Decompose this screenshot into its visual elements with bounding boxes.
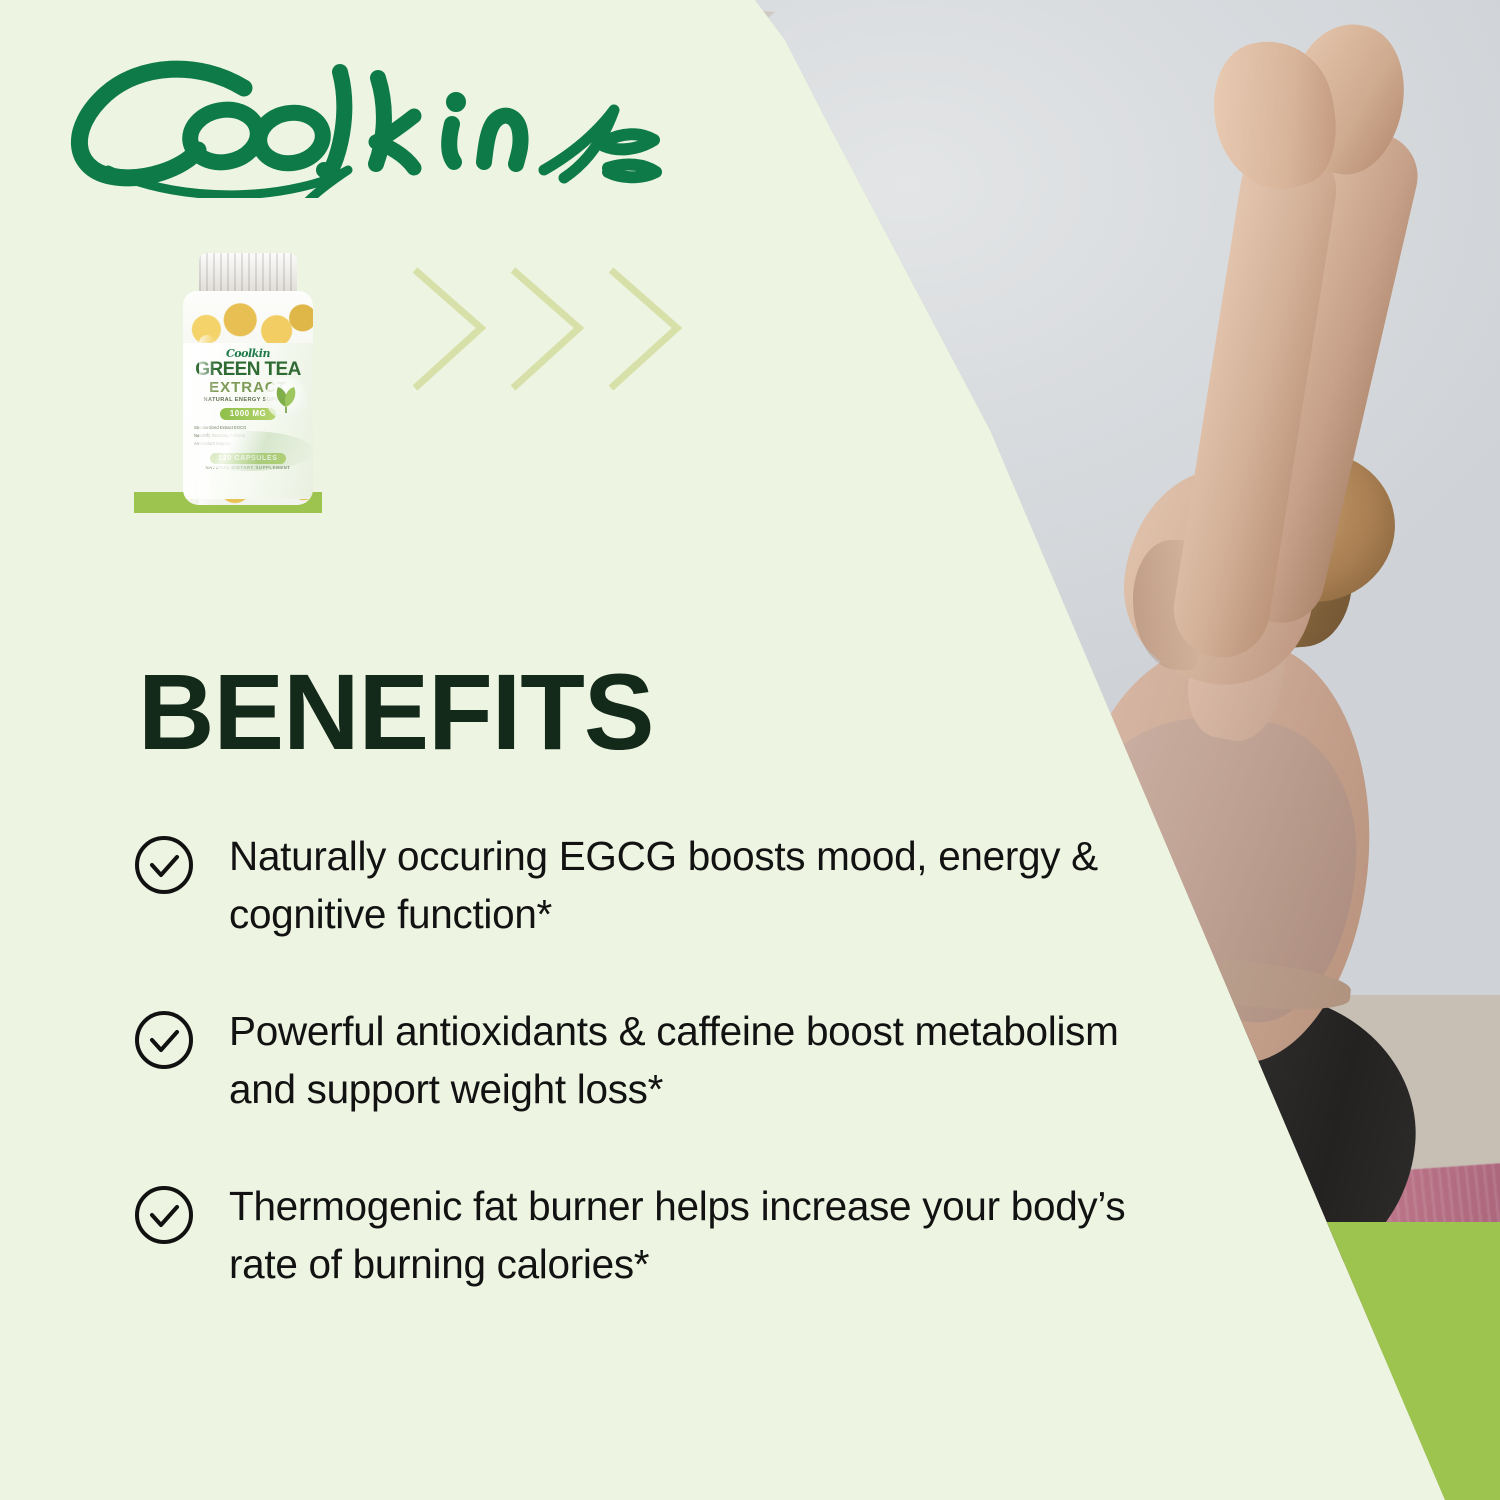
check-circle-icon: [133, 834, 195, 896]
chevron-right-icon: [513, 270, 579, 388]
bottle-cap: [199, 253, 297, 295]
brand-logo: [48, 58, 668, 198]
chevron-decoration: [405, 262, 725, 397]
benefit-item: Naturally occuring EGCG boosts mood, ene…: [133, 828, 1193, 943]
benefit-text: Naturally occuring EGCG boosts mood, ene…: [229, 828, 1193, 943]
chevron-right-icon: [611, 270, 677, 388]
leaf-icon: [265, 377, 307, 419]
benefit-item: Thermogenic fat burner helps increase yo…: [133, 1178, 1193, 1293]
product-bottle: Coolkin GREEN TEA EXTRACT NATURAL ENERGY…: [173, 253, 323, 505]
benefit-text: Powerful antioxidants & caffeine boost m…: [229, 1003, 1193, 1118]
benefits-list: Naturally occuring EGCG boosts mood, ene…: [133, 828, 1193, 1353]
bottle-body: Coolkin GREEN TEA EXTRACT NATURAL ENERGY…: [183, 291, 313, 505]
benefit-text: Thermogenic fat burner helps increase yo…: [229, 1178, 1193, 1293]
check-circle-icon: [133, 1184, 195, 1246]
chevron-right-icon: [415, 270, 481, 388]
page-title: BENEFITS: [138, 658, 654, 766]
leaf-badge-icon: [265, 377, 307, 419]
check-circle-icon: [133, 1009, 195, 1071]
coolkin-logo-svg: [48, 58, 668, 198]
bottle-gloss-highlight: [199, 335, 215, 505]
benefit-item: Powerful antioxidants & caffeine boost m…: [133, 1003, 1193, 1118]
